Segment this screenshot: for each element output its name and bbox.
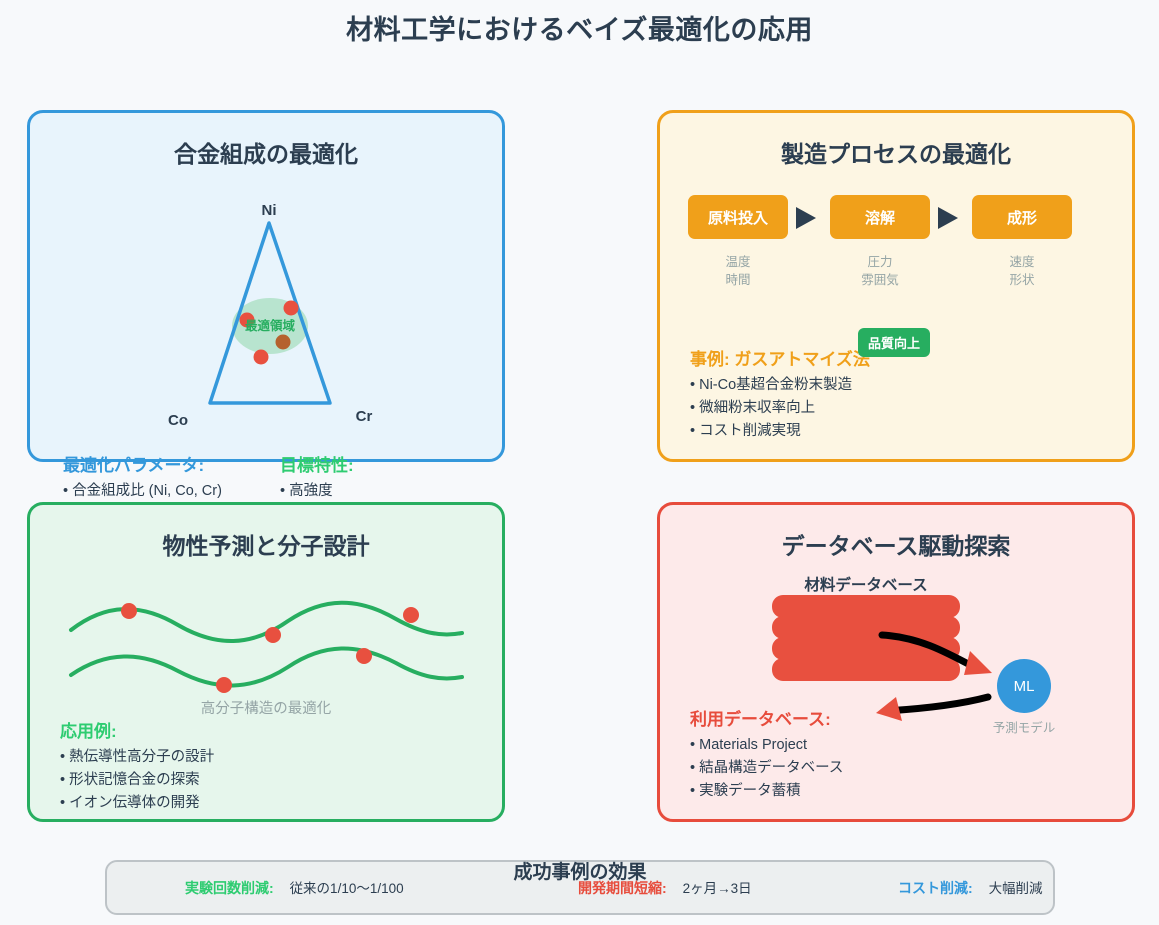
metric-label: コスト削減: — [898, 880, 973, 896]
ternary-diagram: Ni Co Cr 最適領域 — [30, 113, 508, 465]
panel-property-prediction: 物性予測と分子設計 高分子構造の最適化 応用例: 熱伝導性高分子の設計 形状記憶… — [27, 502, 505, 822]
page-title: 材料工学におけるベイズ最適化の応用 — [0, 8, 1159, 47]
sublabel: 速度 — [972, 253, 1072, 271]
metric-label: 開発期間短縮: — [578, 880, 667, 896]
vertex-label-co: Co — [168, 412, 188, 429]
arrow-right-icon — [796, 207, 816, 229]
vertex-label-cr: Cr — [356, 408, 373, 425]
list-item: コスト削減実現 — [690, 420, 1090, 443]
polymer-chain-diagram — [66, 595, 466, 700]
sample-point — [284, 301, 299, 316]
process-flow-diagram: 原料投入 溶解 成形 温度 時間 圧力 雰囲気 速度 形状 — [688, 195, 1108, 255]
metric-value: 2ヶ月→3日 — [683, 881, 752, 896]
database-list: Materials Project 結晶構造データベース 実験データ蓄積 — [690, 734, 1090, 803]
property-apps-heading: 応用例: — [60, 717, 460, 742]
sublabel: 圧力 — [830, 253, 930, 271]
sublabel: 温度 — [688, 253, 788, 271]
list-item: 微細粉末収率向上 — [690, 397, 1090, 420]
process-step-sublabels: 温度 時間 — [688, 253, 788, 289]
monomer-point — [403, 607, 419, 623]
vertex-label-ni: Ni — [262, 202, 277, 219]
polymer-caption: 高分子構造の最適化 — [30, 697, 502, 718]
sublabel: 形状 — [972, 271, 1072, 289]
summary-metric: 実験回数削減: 従来の1/10〜1/100 — [185, 877, 404, 898]
list-item: 熱伝導性高分子の設計 — [60, 746, 460, 769]
panel-database-driven-search: データベース駆動探索 材料データベース ML 予測モデル 利用データベース: M… — [657, 502, 1135, 822]
monomer-point — [356, 648, 372, 664]
list-item: Ni-Co基超合金粉末製造 — [690, 374, 1090, 397]
alloy-targets-heading: 目標特性: — [280, 451, 480, 476]
panel-process-optimization: 製造プロセスの最適化 原料投入 溶解 成形 温度 時間 圧力 雰囲気 速度 形状… — [657, 110, 1135, 462]
list-item: Materials Project — [690, 734, 1090, 757]
metric-value: 従来の1/10〜1/100 — [290, 881, 404, 896]
list-item: 形状記憶合金の探索 — [60, 769, 460, 792]
monomer-point — [216, 677, 232, 693]
optimal-region-label: 最適領域 — [245, 318, 296, 333]
list-item: 高強度 — [280, 480, 480, 503]
metric-label: 実験回数削減: — [185, 880, 274, 896]
sample-point — [276, 335, 291, 350]
list-item: 合金組成比 (Ni, Co, Cr) — [63, 480, 293, 503]
list-item: 実験データ蓄積 — [690, 780, 1090, 803]
panel-property-title: 物性予測と分子設計 — [30, 527, 502, 561]
process-case-block: 事例: ガスアトマイズ法 Ni-Co基超合金粉末製造 微細粉末収率向上 コスト削… — [690, 345, 1090, 443]
arrow-to-ml-stroke — [882, 635, 974, 667]
property-apps-list: 熱伝導性高分子の設計 形状記憶合金の探索 イオン伝導体の開発 — [60, 746, 460, 815]
summary-metric: 開発期間短縮: 2ヶ月→3日 — [578, 877, 752, 898]
polymer-chain-lower — [71, 648, 462, 685]
sublabel: 雰囲気 — [830, 271, 930, 289]
process-step-box[interactable]: 溶解 — [830, 195, 930, 239]
database-list-heading: 利用データベース: — [690, 705, 1090, 730]
metric-value: 大幅削減 — [989, 881, 1043, 896]
status-badge-quality: 品質向上 — [858, 328, 930, 357]
database-list-block: 利用データベース: Materials Project 結晶構造データベース 実… — [690, 705, 1090, 803]
process-step-sublabels: 圧力 雰囲気 — [830, 253, 930, 289]
process-step-sublabels: 速度 形状 — [972, 253, 1072, 289]
monomer-point — [265, 627, 281, 643]
database-stack-label: 材料データベース — [716, 573, 1016, 595]
monomer-point — [121, 603, 137, 619]
panel-database-title: データベース駆動探索 — [660, 527, 1132, 561]
summary-metric: コスト削減: 大幅削減 — [898, 877, 1043, 898]
list-item: 結晶構造データベース — [690, 757, 1090, 780]
panel-alloy-composition: 合金組成の最適化 Ni Co Cr 最適領域 最適化パラメータ: 合金組成比 (… — [27, 110, 505, 462]
arrow-to-ml-head — [964, 651, 992, 675]
arrow-right-icon — [938, 207, 958, 229]
process-case-list: Ni-Co基超合金粉末製造 微細粉末収率向上 コスト削減実現 — [690, 374, 1090, 443]
alloy-parameters-heading: 最適化パラメータ: — [63, 451, 293, 476]
sample-point — [254, 350, 269, 365]
sublabel: 時間 — [688, 271, 788, 289]
process-step-box[interactable]: 原料投入 — [688, 195, 788, 239]
panel-process-title: 製造プロセスの最適化 — [660, 135, 1132, 169]
process-step-box[interactable]: 成形 — [972, 195, 1072, 239]
list-item: イオン伝導体の開発 — [60, 792, 460, 815]
ml-flow-arrows — [870, 593, 1100, 723]
property-apps-block: 応用例: 熱伝導性高分子の設計 形状記憶合金の探索 イオン伝導体の開発 — [60, 717, 460, 815]
